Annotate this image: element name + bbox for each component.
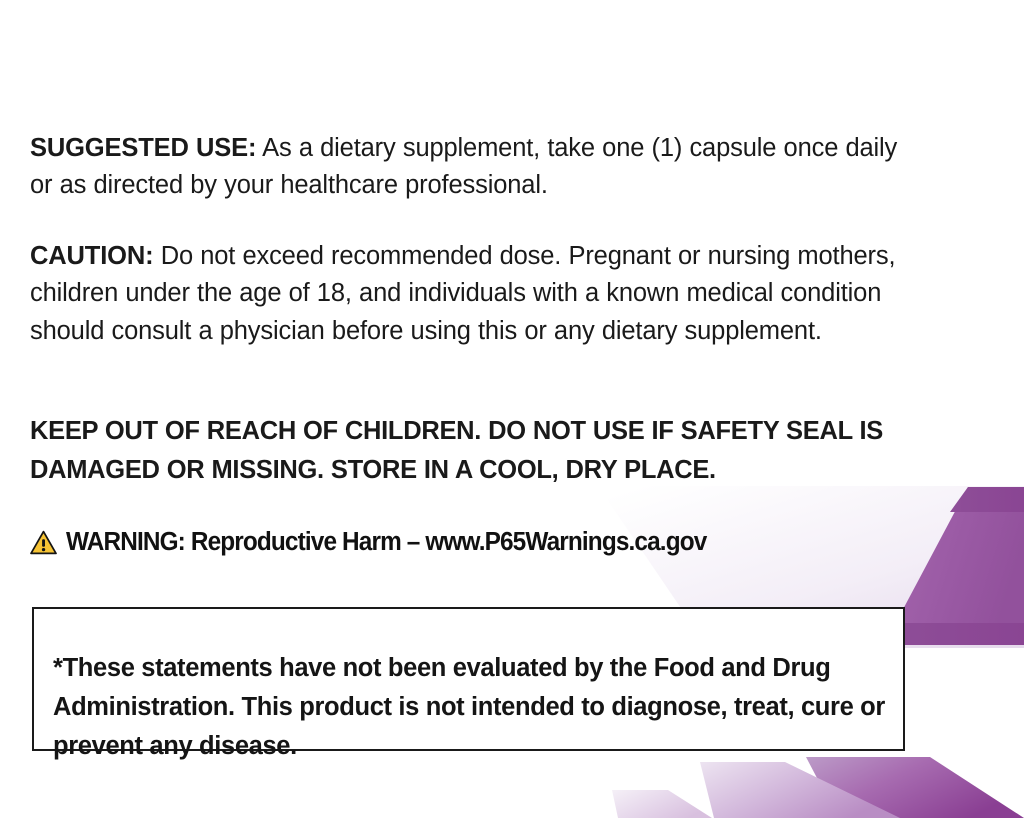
prop65-warning-row: WARNING: Reproductive Harm – www.P65Warn… bbox=[30, 528, 737, 557]
caution-paragraph: CAUTION: Do not exceed recommended dose.… bbox=[30, 238, 914, 351]
keep-out-of-reach-paragraph: KEEP OUT OF REACH OF CHILDREN. DO NOT US… bbox=[30, 412, 914, 490]
fda-disclaimer-text: *These statements have not been evaluate… bbox=[53, 649, 889, 766]
warning-triangle-icon bbox=[30, 530, 57, 555]
label-text-content: SUGGESTED USE: As a dietary supplement, … bbox=[0, 0, 1024, 818]
caution-body: Do not exceed recommended dose. Pregnant… bbox=[30, 242, 895, 345]
suggested-use-paragraph: SUGGESTED USE: As a dietary supplement, … bbox=[30, 130, 914, 205]
suggested-use-heading: SUGGESTED USE: bbox=[30, 134, 256, 162]
supplement-label-panel: SUGGESTED USE: As a dietary supplement, … bbox=[0, 0, 1024, 818]
caution-heading: CAUTION: bbox=[30, 242, 153, 270]
prop65-warning-text: WARNING: Reproductive Harm – www.P65Warn… bbox=[66, 528, 706, 557]
fda-disclaimer-box: *These statements have not been evaluate… bbox=[32, 607, 905, 751]
